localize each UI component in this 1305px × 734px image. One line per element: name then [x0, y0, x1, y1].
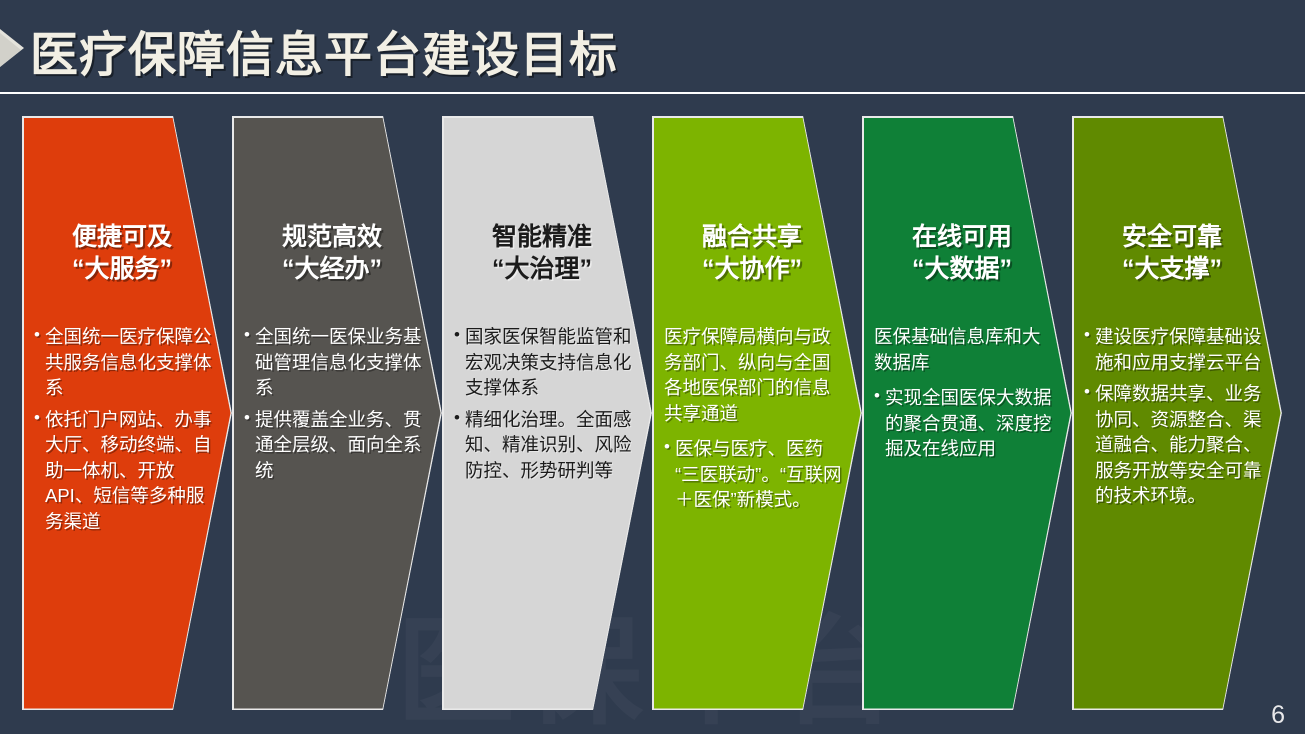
- list-item-text: 国家医保智能监管和宏观决策支持信息化支撑体系: [465, 324, 632, 401]
- panel-governance[interactable]: 智能精准“大治理”•国家医保智能监管和宏观决策支持信息化支撑体系•精细化治理。全…: [442, 116, 652, 710]
- list-item: •精细化治理。全面感知、精准识别、风险防控、形势研判等: [454, 407, 632, 484]
- list-item-text: 提供覆盖全业务、贯通全层级、面向全系统: [255, 407, 422, 484]
- bullet-dot-icon: •: [454, 407, 465, 430]
- panel-support-heading-line2: “大支撑”: [1084, 254, 1260, 286]
- panel-bigdata-content: 在线可用“大数据”医保基础信息库和大数据库•实现全国医保大数据的聚合贯通、深度挖…: [874, 116, 1050, 710]
- panel-support-content: 安全可靠“大支撑”•建设医疗保障基础设施和应用支撑云平台•保障数据共享、业务协同…: [1084, 116, 1260, 710]
- panel-service[interactable]: 便捷可及“大服务”•全国统一医疗保障公共服务信息化支撑体系•依托门户网站、办事大…: [22, 116, 232, 710]
- panel-service-body: •全国统一医疗保障公共服务信息化支撑体系•依托门户网站、办事大厅、移动终端、自助…: [34, 324, 212, 540]
- panel-collaboration[interactable]: 融合共享“大协作”医疗保障局横向与政务部门、纵向与全国各地医保部门的信息共享通道…: [652, 116, 862, 710]
- panel-operation[interactable]: 规范高效“大经办”•全国统一医保业务基础管理信息化支撑体系•提供覆盖全业务、贯通…: [232, 116, 442, 710]
- list-item: •依托门户网站、办事大厅、移动终端、自助一体机、开放API、短信等多种服务渠道: [34, 407, 212, 535]
- bullet-dot-icon: •: [34, 407, 45, 430]
- list-item: •全国统一医保业务基础管理信息化支撑体系: [244, 324, 422, 401]
- list-item-text: 全国统一医保业务基础管理信息化支撑体系: [255, 324, 422, 401]
- panel-service-content: 便捷可及“大服务”•全国统一医疗保障公共服务信息化支撑体系•依托门户网站、办事大…: [34, 116, 210, 710]
- panel-governance-content: 智能精准“大治理”•国家医保智能监管和宏观决策支持信息化支撑体系•精细化治理。全…: [454, 116, 630, 710]
- list-item-text: 依托门户网站、办事大厅、移动终端、自助一体机、开放API、短信等多种服务渠道: [45, 407, 212, 535]
- chevron-right-icon: [0, 27, 30, 69]
- panel-collaboration-body: 医疗保障局横向与政务部门、纵向与全国各地医保部门的信息共享通道•医保与医疗、医药…: [664, 324, 842, 519]
- panel-bigdata-body: 医保基础信息库和大数据库•实现全国医保大数据的聚合贯通、深度挖掘及在线应用: [874, 324, 1052, 468]
- list-item-text: 建设医疗保障基础设施和应用支撑云平台: [1095, 324, 1262, 375]
- panel-operation-heading: 规范高效“大经办”: [244, 222, 420, 285]
- list-item: •建设医疗保障基础设施和应用支撑云平台: [1084, 324, 1262, 375]
- panel-service-heading-line1: 便捷可及: [72, 223, 172, 251]
- panel-collaboration-heading-line1: 融合共享: [702, 223, 802, 251]
- bullet-dot-icon: •: [244, 324, 255, 347]
- bullet-dot-icon: •: [874, 385, 885, 408]
- list-item-text: 医保与医疗、医药“三医联动”。“互联网＋医保”新模式。: [675, 436, 842, 513]
- list-item-text: 精细化治理。全面感知、精准识别、风险防控、形势研判等: [465, 407, 632, 484]
- panel-bigdata-heading-line2: “大数据”: [874, 254, 1050, 286]
- list-item-text: 医疗保障局横向与政务部门、纵向与全国各地医保部门的信息共享通道: [664, 324, 842, 426]
- list-item: •国家医保智能监管和宏观决策支持信息化支撑体系: [454, 324, 632, 401]
- list-item-text: 实现全国医保大数据的聚合贯通、深度挖掘及在线应用: [885, 385, 1052, 462]
- page-number: 6: [1271, 701, 1285, 730]
- list-item: •医保与医疗、医药“三医联动”。“互联网＋医保”新模式。: [664, 436, 842, 513]
- panel-bigdata-heading-line1: 在线可用: [912, 223, 1012, 251]
- panel-support-body: •建设医疗保障基础设施和应用支撑云平台•保障数据共享、业务协同、资源整合、渠道融…: [1084, 324, 1262, 515]
- panel-governance-heading-line1: 智能精准: [492, 223, 592, 251]
- panel-support[interactable]: 安全可靠“大支撑”•建设医疗保障基础设施和应用支撑云平台•保障数据共享、业务协同…: [1072, 116, 1282, 710]
- bullet-dot-icon: •: [34, 324, 45, 347]
- bullet-dot-icon: •: [1084, 381, 1095, 404]
- panel-operation-heading-line1: 规范高效: [282, 223, 382, 251]
- panel-collaboration-content: 融合共享“大协作”医疗保障局横向与政务部门、纵向与全国各地医保部门的信息共享通道…: [664, 116, 840, 710]
- panel-collaboration-heading: 融合共享“大协作”: [664, 222, 840, 285]
- panel-collaboration-heading-line2: “大协作”: [664, 254, 840, 286]
- panel-governance-heading: 智能精准“大治理”: [454, 222, 630, 285]
- bullet-dot-icon: •: [454, 324, 465, 347]
- panel-operation-heading-line2: “大经办”: [244, 254, 420, 286]
- panel-operation-body: •全国统一医保业务基础管理信息化支撑体系•提供覆盖全业务、贯通全层级、面向全系统: [244, 324, 422, 489]
- slide-canvas: 医保平台 医疗保障信息平台建设目标 便捷可及“大服务”•全国统一医疗保障公共服务…: [0, 0, 1305, 734]
- panel-operation-content: 规范高效“大经办”•全国统一医保业务基础管理信息化支撑体系•提供覆盖全业务、贯通…: [244, 116, 420, 710]
- goal-panel-group: 便捷可及“大服务”•全国统一医疗保障公共服务信息化支撑体系•依托门户网站、办事大…: [0, 94, 1305, 734]
- list-item: 医保基础信息库和大数据库: [874, 324, 1052, 375]
- panel-service-heading-line2: “大服务”: [34, 254, 210, 286]
- list-item-text: 保障数据共享、业务协同、资源整合、渠道融合、能力聚合、服务开放等安全可靠的技术环…: [1095, 381, 1262, 509]
- list-item-text: 全国统一医疗保障公共服务信息化支撑体系: [45, 324, 212, 401]
- list-item-text: 医保基础信息库和大数据库: [874, 324, 1052, 375]
- list-item: 医疗保障局横向与政务部门、纵向与全国各地医保部门的信息共享通道: [664, 324, 842, 426]
- list-item: •提供覆盖全业务、贯通全层级、面向全系统: [244, 407, 422, 484]
- slide-header: 医疗保障信息平台建设目标: [0, 0, 1305, 94]
- panel-bigdata-heading: 在线可用“大数据”: [874, 222, 1050, 285]
- list-item: •全国统一医疗保障公共服务信息化支撑体系: [34, 324, 212, 401]
- bullet-dot-icon: •: [664, 436, 675, 459]
- list-item: •保障数据共享、业务协同、资源整合、渠道融合、能力聚合、服务开放等安全可靠的技术…: [1084, 381, 1262, 509]
- page-title: 医疗保障信息平台建设目标: [30, 15, 618, 85]
- panel-governance-body: •国家医保智能监管和宏观决策支持信息化支撑体系•精细化治理。全面感知、精准识别、…: [454, 324, 632, 489]
- panel-governance-heading-line2: “大治理”: [454, 254, 630, 286]
- bullet-dot-icon: •: [244, 407, 255, 430]
- bullet-dot-icon: •: [1084, 324, 1095, 347]
- panel-bigdata[interactable]: 在线可用“大数据”医保基础信息库和大数据库•实现全国医保大数据的聚合贯通、深度挖…: [862, 116, 1072, 710]
- list-item: •实现全国医保大数据的聚合贯通、深度挖掘及在线应用: [874, 385, 1052, 462]
- panel-support-heading: 安全可靠“大支撑”: [1084, 222, 1260, 285]
- panel-service-heading: 便捷可及“大服务”: [34, 222, 210, 285]
- panel-support-heading-line1: 安全可靠: [1122, 223, 1222, 251]
